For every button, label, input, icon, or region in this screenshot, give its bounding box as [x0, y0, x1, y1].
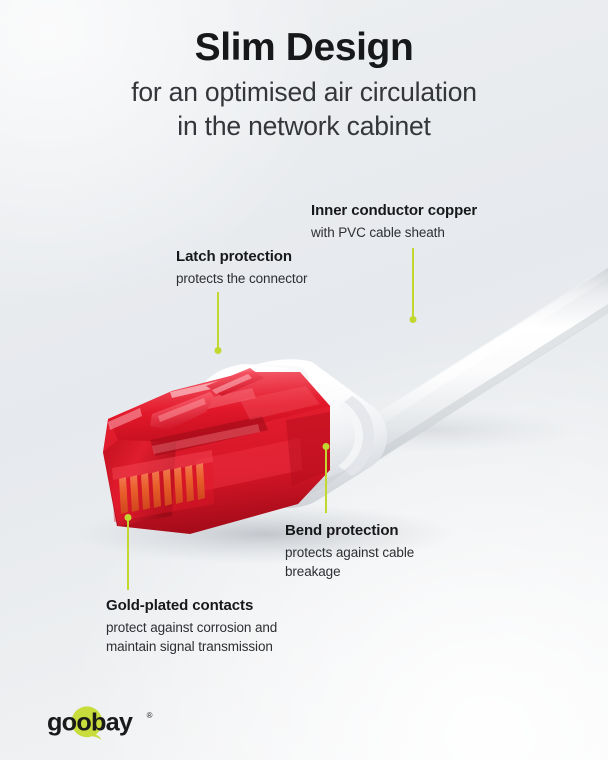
callout-gold-plated-contacts-title: Gold-plated contacts: [106, 596, 277, 616]
callout-inner-conductor: Inner conductor copper with PVC cable sh…: [311, 201, 477, 242]
goobay-logo: goobay ®: [47, 706, 177, 740]
callout-latch-protection-title: Latch protection: [176, 247, 307, 267]
callout-bend-protection-description: protects against cable breakage: [285, 541, 414, 581]
callout-bend-protection-description-line-2: breakage: [285, 562, 414, 581]
callout-bend-protection: Bend protection protects against cable b…: [285, 521, 414, 582]
callout-bend-protection-description-line-1: protects against cable: [285, 543, 414, 562]
callout-latch-protection: Latch protection protects the connector: [176, 247, 307, 288]
callout-latch-protection-description-line-1: protects the connector: [176, 269, 307, 288]
leader-line-inner-conductor: [412, 248, 414, 321]
callout-gold-plated-contacts: Gold-plated contacts protect against cor…: [106, 596, 277, 657]
callout-inner-conductor-title: Inner conductor copper: [311, 201, 477, 221]
leader-line-gold-plated-contacts: [127, 516, 129, 590]
logo-wordmark: goobay: [47, 709, 133, 737]
callout-bend-protection-title: Bend protection: [285, 521, 414, 541]
leader-line-latch-protection: [217, 292, 219, 352]
slim-design-infographic: Slim Design for an optimised air circula…: [0, 0, 608, 760]
callout-latch-protection-description: protects the connector: [176, 267, 307, 288]
page-subtitle: for an optimised air circulation in the …: [0, 69, 608, 144]
callout-gold-plated-contacts-description: protect against corrosion and maintain s…: [106, 616, 277, 656]
callout-gold-plated-contacts-description-line-1: protect against corrosion and: [106, 618, 277, 637]
page-subtitle-line-1: for an optimised air circulation: [0, 76, 608, 110]
page-subtitle-line-2: in the network cabinet: [0, 110, 608, 144]
callout-inner-conductor-description-line-1: with PVC cable sheath: [311, 223, 477, 242]
leader-line-bend-protection: [325, 445, 327, 513]
page-title: Slim Design: [0, 0, 608, 69]
callout-inner-conductor-description: with PVC cable sheath: [311, 221, 477, 242]
callout-gold-plated-contacts-description-line-2: maintain signal transmission: [106, 637, 277, 656]
logo-trademark-symbol: ®: [147, 711, 153, 720]
header: Slim Design for an optimised air circula…: [0, 0, 608, 144]
